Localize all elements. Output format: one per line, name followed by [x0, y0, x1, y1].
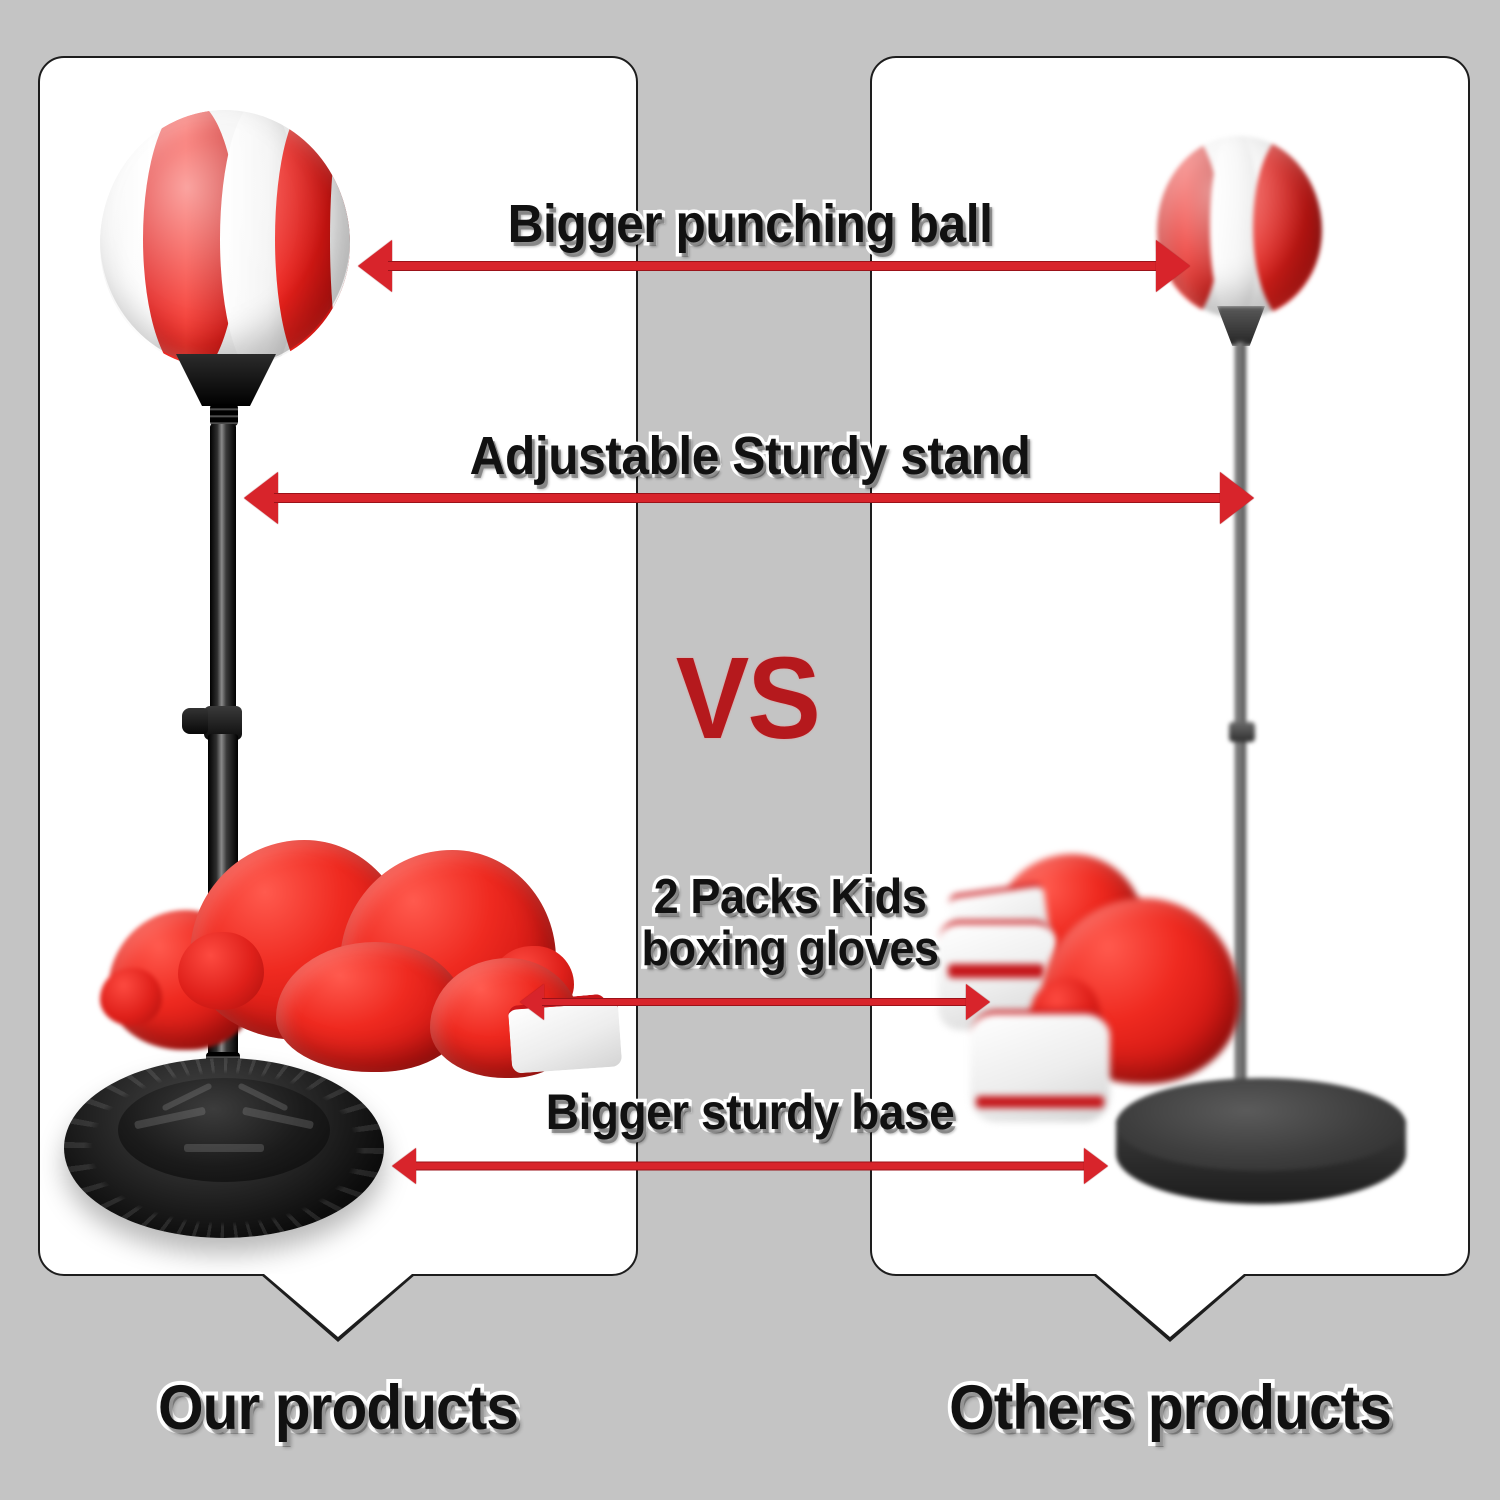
arrow-feature-stand: [244, 490, 1254, 506]
arrow-head-left-stand: [244, 472, 278, 524]
ball-cone-adapter-others: [1217, 306, 1265, 346]
ball-spring-top-ours: [210, 404, 238, 426]
arrow-shaft-stand: [274, 493, 1224, 503]
boxing-glove-ours-5: [430, 958, 580, 1078]
arrow-head-left-gloves: [520, 984, 544, 1020]
stand-adjust-clamp-others: [1229, 722, 1255, 742]
callout-label-gloves-line2: boxing gloves: [588, 924, 993, 976]
stand-adjust-knob-ours: [182, 708, 208, 734]
arrow-head-left-ball: [358, 240, 392, 292]
arrow-feature-ball: [358, 258, 1190, 274]
callout-label-gloves-line1: 2 Packs Kids: [588, 872, 993, 924]
caption-others-products: Others products: [891, 1372, 1449, 1444]
stand-pole-upper-ours: [210, 424, 236, 724]
arrow-feature-base: [392, 1158, 1108, 1174]
arrow-shaft-gloves: [542, 998, 968, 1006]
callout-label-stand: Adjustable Sturdy stand: [446, 428, 1053, 485]
arrow-head-right-base: [1084, 1148, 1108, 1184]
ball-cone-adapter-ours: [176, 354, 276, 406]
callout-label-base: Bigger sturdy base: [483, 1086, 1017, 1139]
arrow-head-right-stand: [1220, 472, 1254, 524]
callout-label-gloves: 2 Packs Kids boxing gloves: [588, 872, 993, 976]
punching-ball-ours: [100, 110, 350, 368]
arrow-shaft-ball: [388, 261, 1160, 271]
arrow-head-left-base: [392, 1148, 416, 1184]
panel-tail-others-products: [1092, 1274, 1248, 1342]
panel-tail-our-products: [260, 1274, 416, 1342]
arrow-head-right-ball: [1156, 240, 1190, 292]
callout-label-ball: Bigger punching ball: [474, 196, 1026, 253]
arrow-feature-gloves: [520, 994, 990, 1010]
caption-our-products: Our products: [59, 1372, 617, 1444]
infographic-canvas: Bigger punching ball Adjustable Sturdy s…: [0, 0, 1500, 1500]
tire-base-ours: [64, 1058, 384, 1238]
vs-badge: VS: [676, 640, 819, 756]
arrow-shaft-base: [416, 1162, 1084, 1171]
disc-base-others: [1116, 1078, 1406, 1228]
arrow-head-right-gloves: [966, 984, 990, 1020]
